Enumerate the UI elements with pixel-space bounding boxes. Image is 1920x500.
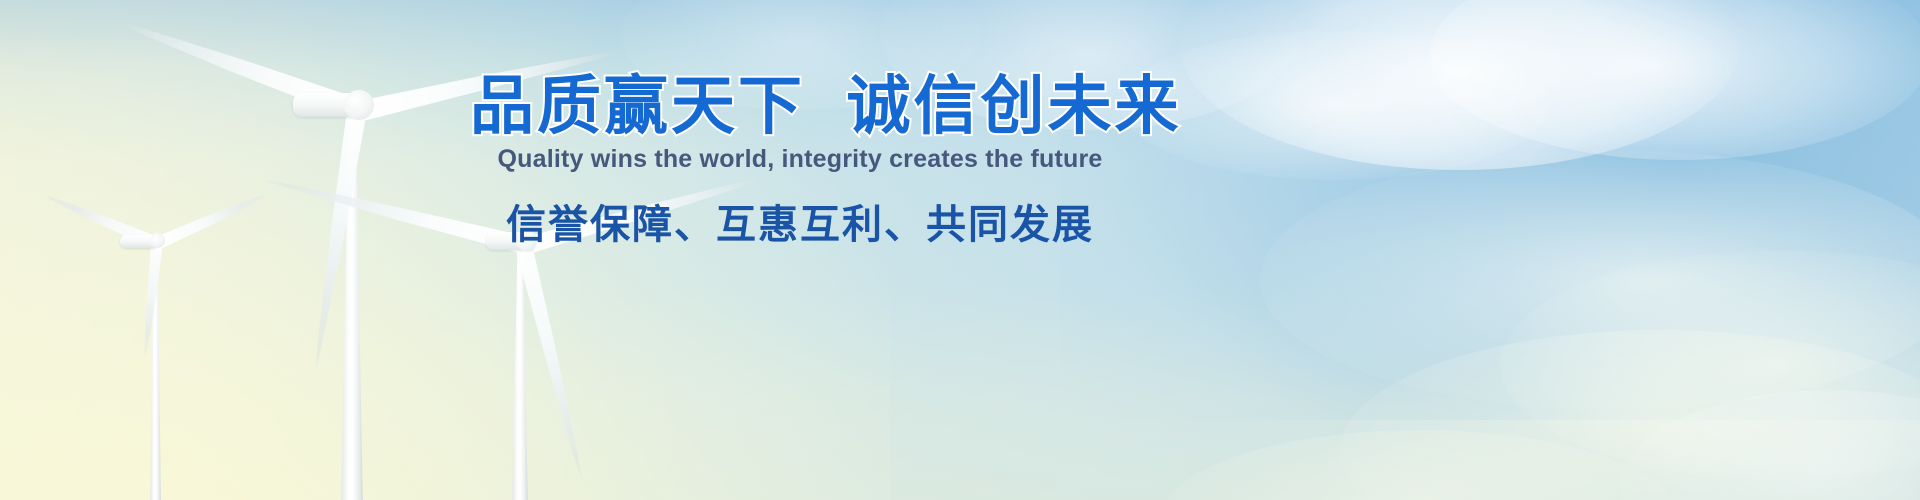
banner-subtitle: Quality wins the world, integrity create… (470, 144, 1130, 174)
hero-banner: 品质赢天下 诚信创未来 Quality wins the world, inte… (0, 0, 1920, 500)
turbine-tower (512, 248, 528, 500)
banner-headline: 品质赢天下 诚信创未来 (470, 68, 1130, 144)
banner-tagline: 信誉保障、互惠互利、共同发展 (470, 200, 1130, 250)
